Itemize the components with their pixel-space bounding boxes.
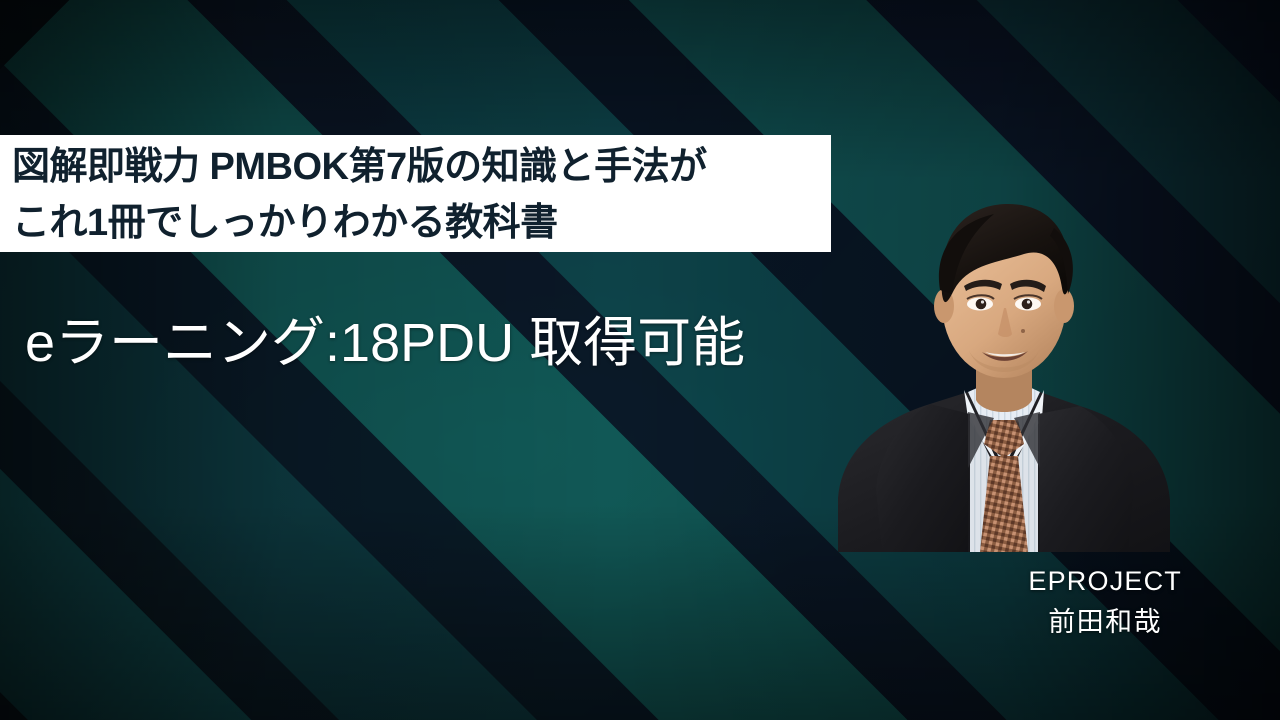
presenter-caption: EPROJECT 前田和哉 (1028, 562, 1182, 644)
presenter-name: 前田和哉 (1028, 600, 1182, 644)
slide-subtitle: eラーニング:18PDU 取得可能 (25, 308, 745, 378)
portrait-illustration (818, 168, 1188, 552)
slide-title-line-2: これ1冊でしっかりわかる教科書 (12, 195, 831, 251)
slide-title-line-1: 図解即戦力 PMBOK第7版の知識と手法が (12, 139, 831, 195)
slide-title-band: 図解即戦力 PMBOK第7版の知識と手法が これ1冊でしっかりわかる教科書 (0, 135, 831, 252)
presenter-organization: EPROJECT (1028, 562, 1182, 600)
presenter-portrait-photo (818, 168, 1188, 552)
presentation-slide: 図解即戦力 PMBOK第7版の知識と手法が これ1冊でしっかりわかる教科書 eラ… (0, 0, 1280, 720)
